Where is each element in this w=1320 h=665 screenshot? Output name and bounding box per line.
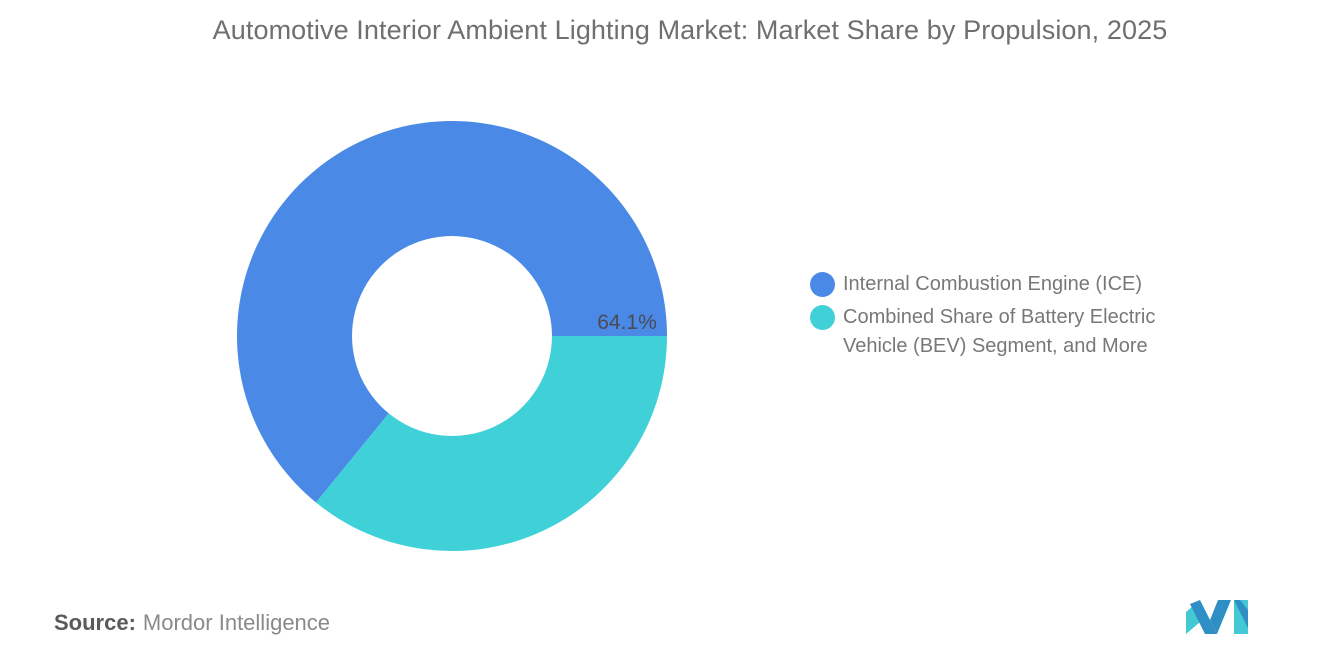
mordor-intelligence-logo-icon — [1184, 598, 1250, 636]
legend-label-bev: Combined Share of Battery Electric Vehic… — [843, 303, 1203, 361]
donut-chart-svg — [237, 121, 667, 551]
source-line: Source:Mordor Intelligence — [54, 610, 330, 636]
legend-item-ice[interactable]: Internal Combustion Engine (ICE) — [810, 270, 1210, 299]
legend-swatch-circle-icon-ice — [810, 272, 835, 297]
chart-title: Automotive Interior Ambient Lighting Mar… — [170, 10, 1210, 50]
source-label: Source: — [54, 610, 136, 635]
legend-item-bev[interactable]: Combined Share of Battery Electric Vehic… — [810, 303, 1210, 361]
legend-swatch-circle-icon-bev — [810, 305, 835, 330]
donut-slice-bev[interactable] — [316, 336, 667, 551]
source-value: Mordor Intelligence — [143, 610, 330, 635]
chart-legend: Internal Combustion Engine (ICE) Combine… — [810, 270, 1210, 365]
donut-slice-group — [237, 121, 667, 551]
legend-label-ice: Internal Combustion Engine (ICE) — [843, 270, 1142, 299]
donut-chart: 64.1% — [237, 121, 667, 551]
